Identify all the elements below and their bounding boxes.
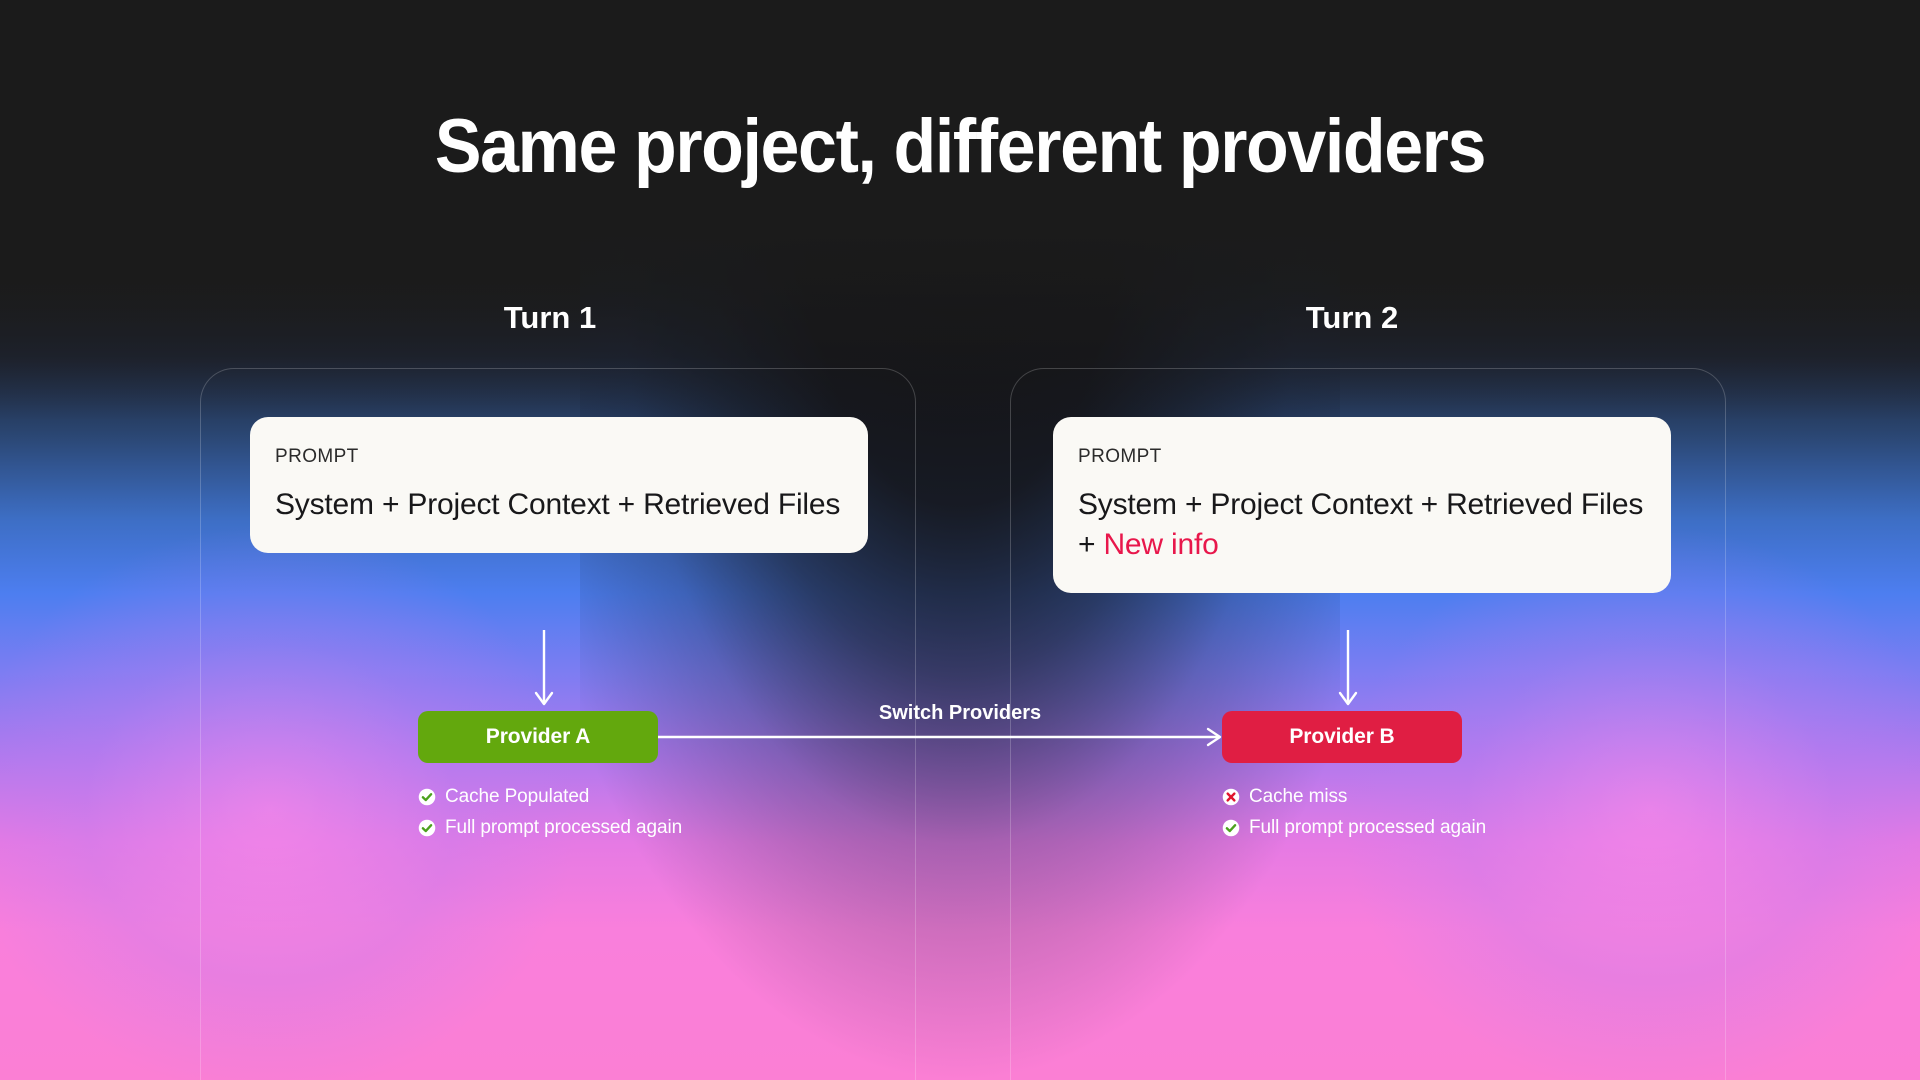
- prompt-kicker-2: PROMPT: [1078, 446, 1646, 468]
- prompt-kicker-1: PROMPT: [275, 446, 843, 468]
- bullet-list-turn-1: Cache Populated Full prompt processed ag…: [418, 784, 682, 846]
- prompt-card-turn-1: PROMPT System + Project Context + Retrie…: [250, 417, 868, 553]
- prompt-card-turn-2: PROMPT System + Project Context + Retrie…: [1053, 417, 1671, 593]
- list-item-label: Cache Populated: [445, 786, 589, 808]
- provider-a-label: Provider A: [486, 725, 590, 749]
- down-arrow-icon-turn-2: [1336, 630, 1360, 712]
- prompt-highlight-new-info: New info: [1103, 528, 1218, 561]
- list-item: Full prompt processed again: [1222, 815, 1486, 841]
- down-arrow-icon-turn-1: [532, 630, 556, 712]
- diagram-canvas: Same project, different providers Turn 1…: [0, 0, 1920, 1080]
- check-circle-icon: [418, 788, 436, 806]
- x-circle-icon: [1222, 788, 1240, 806]
- list-item: Cache Populated: [418, 784, 682, 810]
- turn-label-2: Turn 2: [1202, 300, 1502, 336]
- list-item: Cache miss: [1222, 784, 1486, 810]
- switch-providers-label: Switch Providers: [660, 702, 1260, 725]
- list-item-label: Full prompt processed again: [1249, 817, 1486, 839]
- list-item: Full prompt processed again: [418, 815, 682, 841]
- provider-a-button[interactable]: Provider A: [418, 711, 658, 763]
- check-circle-icon: [418, 819, 436, 837]
- bullet-list-turn-2: Cache miss Full prompt processed again: [1222, 784, 1486, 846]
- page-title: Same project, different providers: [77, 105, 1843, 189]
- check-circle-icon: [1222, 819, 1240, 837]
- turn-label-1: Turn 1: [400, 300, 700, 336]
- prompt-body-1: System + Project Context + Retrieved Fil…: [275, 485, 843, 525]
- list-item-label: Cache miss: [1249, 786, 1347, 808]
- provider-b-label: Provider B: [1289, 725, 1394, 749]
- prompt-body-text-1: System + Project Context + Retrieved Fil…: [275, 488, 840, 521]
- switch-providers-arrow-icon: [658, 726, 1228, 748]
- prompt-body-2: System + Project Context + Retrieved Fil…: [1078, 485, 1646, 565]
- list-item-label: Full prompt processed again: [445, 817, 682, 839]
